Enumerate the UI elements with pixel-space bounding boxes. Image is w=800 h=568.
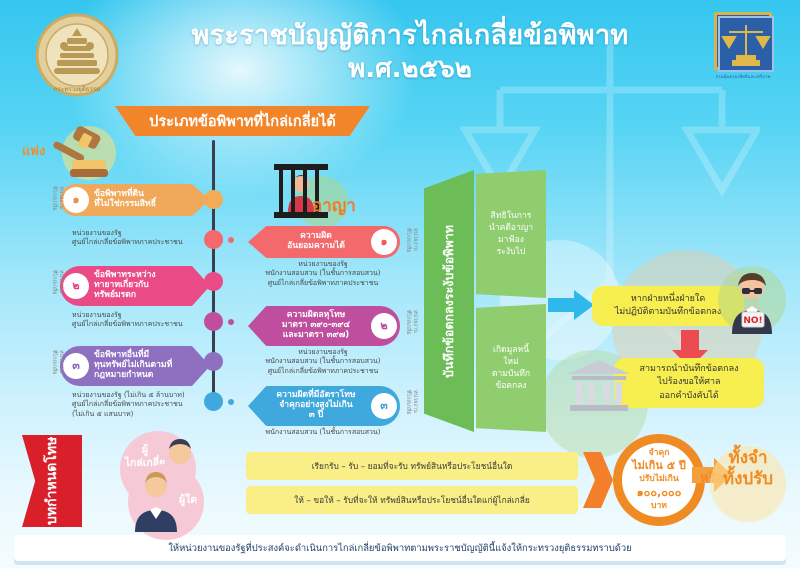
- gavel-icon: [46, 124, 118, 182]
- criminal-item-1[interactable]: ความผิด อันยอมความได้ ๑: [248, 226, 400, 258]
- civil-item-1[interactable]: ๑ ข้อพิพาทที่ดิน ที่ไม่ใช่กรรมสิทธิ์: [60, 184, 210, 216]
- criminal-item-1-title: ความผิด อันยอมความได้: [252, 232, 366, 252]
- criminal-item-2-title: ความผิดลหุโทษ มาตรา ๓๙๐-๓๙๔ และมาตรา ๓๙๗…: [252, 311, 366, 340]
- civil-item-1-sidetag: หน่วยงาน ที่ไกล่เกลี่ย: [50, 186, 64, 210]
- rights-department-caption: กรมคุ้มครองสิทธิและเสรีภาพ: [704, 73, 782, 80]
- footer-note: ให้หน่วยงานของรัฐที่ประสงค์จะดำเนินการไก…: [14, 535, 786, 561]
- criminal-item-2[interactable]: ความผิดลหุโทษ มาตรา ๓๙๐-๓๙๔ และมาตรา ๓๙๗…: [248, 306, 400, 346]
- criminal-item-3[interactable]: ความผิดที่มีอัตราโทษ จำคุกอย่างสูงไม่เกิ…: [248, 386, 400, 426]
- no-sign-text: NO!: [743, 316, 762, 326]
- category-label-criminal: อาญา: [312, 192, 356, 219]
- page-title-line1: พระราชบัญญัติการไกล่เกลี่ยข้อพิพาท: [150, 20, 670, 52]
- page-title-line2: พ.ศ.๒๕๖๒: [150, 54, 670, 85]
- infographic-canvas: กระทรวงยุติธรรม พระราชบัญญัติการไกล่เกลี…: [0, 0, 800, 568]
- criminal-item-3-number: ๓: [371, 393, 397, 419]
- civil-item-1-title: ข้อพิพาทที่ดิน ที่ไม่ใช่กรรมสิทธิ์: [94, 190, 206, 210]
- penalty-tag: บทกำหนดโทษ: [22, 435, 82, 527]
- civil-item-2-title: ข้อพิพาทระหว่าง ทายาทเกี่ยวกับ ทรัพย์มรด…: [94, 271, 206, 300]
- criminal-item-1-note: หน่วยงานของรัฐ พนักงานสอบสวน (ในชั้นการส…: [238, 260, 408, 288]
- rights-department-emblem-icon: [714, 12, 772, 70]
- criminal-item-1-sidetag: หน่วยงาน ที่ไกล่เกลี่ย: [404, 228, 418, 252]
- criminal-item-2-number: ๒: [371, 313, 397, 339]
- sentence-line3: ปรับไม่เกิน: [639, 474, 679, 486]
- blue-arrow-icon: [548, 290, 594, 320]
- penalty-offence-2: ให้ – ขอให้ – รับที่จะให้ ทรัพย์สินหรือป…: [246, 486, 578, 514]
- seal-caption: กระทรวงยุติธรรม: [54, 86, 100, 93]
- page-title: พระราชบัญญัติการไกล่เกลี่ยข้อพิพาท พ.ศ.๒…: [150, 20, 670, 85]
- civil-item-3-title: ข้อพิพาทอื่นที่มี ทุนทรัพย์ไม่เกินตามที่…: [94, 351, 206, 380]
- sentence-line1: จำคุก: [649, 448, 670, 460]
- criminal-item-2-sidetag: หน่วยงาน ที่ไกล่เกลี่ย: [404, 310, 418, 334]
- section-banner-dispute-types: ประเภทข้อพิพาทที่ไกล่เกลี่ยได้: [115, 106, 370, 136]
- breach-card-2: สามารถนำบันทึกข้อตกลง ไปร้องขอให้ศาล ออก…: [614, 358, 764, 408]
- civil-item-3[interactable]: ๓ ข้อพิพาทอื่นที่มี ทุนทรัพย์ไม่เกินตามท…: [60, 346, 210, 386]
- rights-department-logo: กรมคุ้มครองสิทธิและเสรีภาพ: [704, 12, 782, 80]
- anyperson-avatar-icon: [132, 470, 180, 534]
- court-building-icon: [566, 358, 632, 414]
- criminal-item-2-note: หน่วยงานของรัฐ พนักงานสอบสวน (ในชั้นการส…: [238, 348, 408, 376]
- sentence-line5: บาท: [651, 501, 667, 513]
- criminal-item-3-sidetag: หน่วยงาน ที่ไกล่เกลี่ย: [404, 390, 418, 414]
- ministry-seal-icon: กระทรวงยุติธรรม: [34, 12, 120, 98]
- orange-arrow-icon: [583, 452, 613, 508]
- civil-item-3-sidetag: หน่วยงาน ที่ไกล่เกลี่ย: [50, 350, 64, 374]
- agreement-effect-1: สิทธิในการ นำคดีอาญา มาฟ้อง ระงับไป: [476, 170, 546, 298]
- civil-item-2-number: ๒: [63, 273, 89, 299]
- sentence-line2: ไม่เกิน ๕ ปี: [632, 459, 686, 474]
- civil-item-3-note: หน่วยงานของรัฐ (ไม่เกิน ๕ ล้านบาท) ศูนย์…: [72, 391, 232, 419]
- penalty-offence-1: เรียกรับ – รับ – ยอมที่จะรับ ทรัพย์สินหร…: [246, 452, 578, 480]
- penalty-sentence-text: จำคุก ไม่เกิน ๕ ปี ปรับไม่เกิน ๑๐๐,๐๐๐ บ…: [622, 443, 696, 517]
- category-label-civil: แพ่ง: [22, 140, 45, 161]
- civil-item-1-number: ๑: [63, 187, 89, 213]
- civil-item-2[interactable]: ๒ ข้อพิพาทระหว่าง ทายาทเกี่ยวกับ ทรัพย์ม…: [60, 266, 210, 306]
- agreement-panel-title: บันทึกข้อตกลงระงับข้อพิพาท: [424, 170, 474, 432]
- criminal-item-1-number: ๑: [371, 229, 397, 255]
- sentence-line4: ๑๐๐,๐๐๐: [637, 486, 682, 501]
- person-refusing-icon: NO!: [714, 262, 790, 338]
- civil-item-1-note: หน่วยงานของรัฐ ศูนย์ไกล่เกลี่ยข้อพิพาทภา…: [72, 229, 232, 248]
- civil-item-2-note: หน่วยงานของรัฐ ศูนย์ไกล่เกลี่ยข้อพิพาทภา…: [72, 311, 232, 330]
- agreement-panel: บันทึกข้อตกลงระงับข้อพิพาท สิทธิในการ นำ…: [424, 170, 546, 432]
- penalty-both-label: ทั้งจำ ทั้งปรับ: [702, 448, 794, 491]
- agreement-effect-2: เกิดมูลหนี้ ใหม่ ตามบันทึก ข้อตกลง: [476, 304, 546, 432]
- criminal-item-3-title: ความผิดที่มีอัตราโทษ จำคุกอย่างสูงไม่เกิ…: [252, 391, 366, 420]
- civil-item-3-number: ๓: [63, 353, 89, 379]
- civil-item-2-sidetag: หน่วยงาน ที่ไกล่เกลี่ย: [50, 270, 64, 294]
